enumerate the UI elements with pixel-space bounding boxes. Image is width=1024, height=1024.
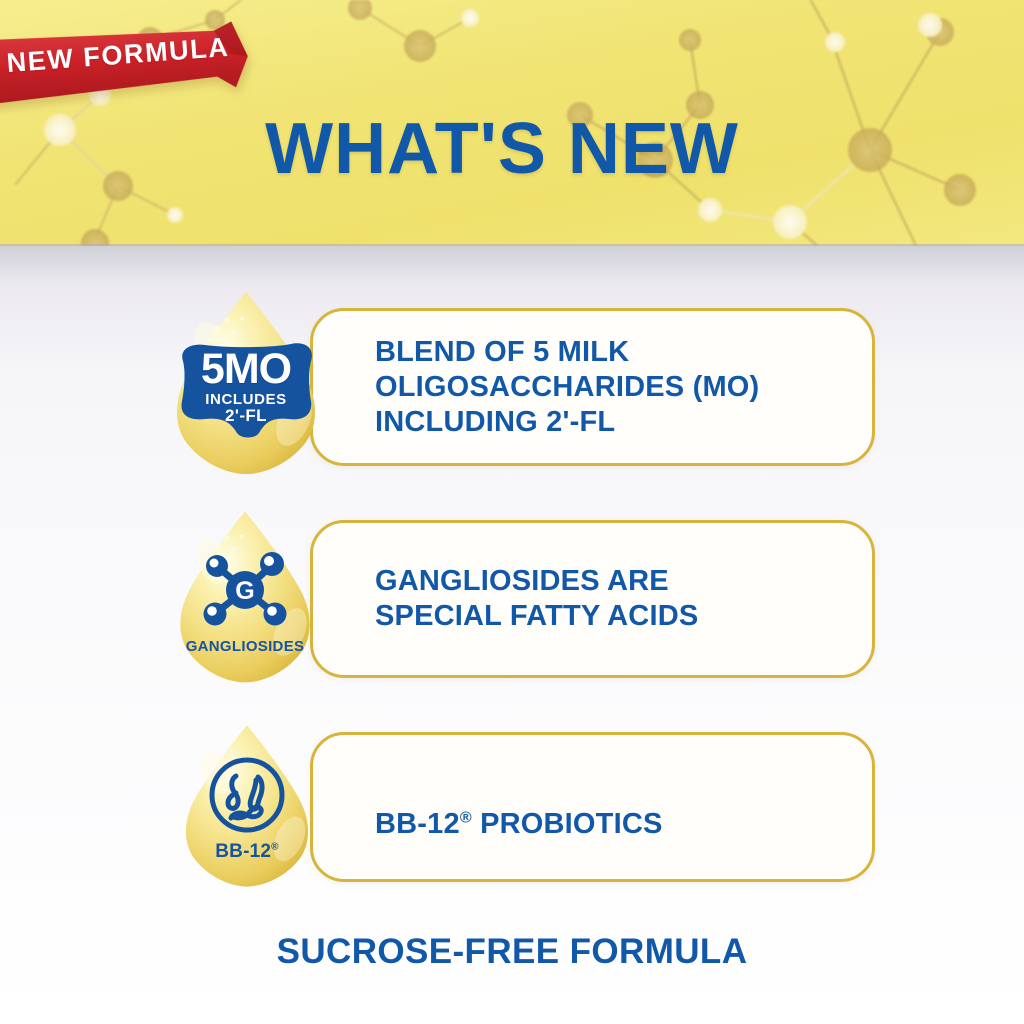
page-title: WHAT'S NEW [0,108,1024,190]
infographic-page: NEW FORMULA WHAT'S NEW BLEND OF 5 MILK O… [0,0,1024,1024]
badge-5mo-sub-includes: INCLUDES [205,392,286,408]
benefit-text: BLEND OF 5 MILK OLIGOSACCHARIDES (MO) IN… [375,335,759,439]
benefit-card[interactable]: BB-12® PROBIOTICS [310,732,875,882]
ganglioside-molecule-icon: G [195,546,295,634]
droplet-bb12-icon: BB-12® [162,720,332,890]
droplet-bb12-content: BB-12® [162,720,332,890]
ganglioside-letter: G [235,577,254,605]
benefit-text: BB-12® PROBIOTICS [375,772,663,842]
droplet-gangliosides-content: G GANGLIOSIDES [155,506,335,686]
bb12-label-text: BB-12 [215,841,271,862]
registered-trademark-symbol: ® [460,809,472,826]
badge-5mo-main: 5MO [201,349,291,390]
benefit-card[interactable]: BLEND OF 5 MILK OLIGOSACCHARIDES (MO) IN… [310,308,875,466]
benefit-text-rest: PROBIOTICS [472,808,663,840]
probiotic-bacteria-icon [206,754,288,836]
benefit-row-bb12: BB-12® PROBIOTICS [140,712,885,907]
badge-5mo-sub-2fl: 2'-FL [225,407,267,425]
droplet-5mo-content: 5MO INCLUDES 2'-FL [150,286,342,478]
droplet-5mo-icon: 5MO INCLUDES 2'-FL [150,286,342,478]
bb12-label: BB-12® [215,841,278,863]
header-banner: NEW FORMULA WHAT'S NEW [0,0,1024,246]
benefit-text-main: BB-12 [375,808,460,840]
benefit-card[interactable]: GANGLIOSIDES ARE SPECIAL FATTY ACIDS [310,520,875,678]
footer-text: SUCROSE-FREE FORMULA [0,932,1024,972]
benefit-row-gangliosides: GANGLIOSIDES ARE SPECIAL FATTY ACIDS [140,500,885,700]
benefit-text: GANGLIOSIDES ARE SPECIAL FATTY ACIDS [375,564,698,634]
badge-5mo: 5MO INCLUDES 2'-FL [175,339,317,439]
ganglioside-label: GANGLIOSIDES [186,638,305,655]
droplet-gangliosides-icon: G GANGLIOSIDES [155,506,335,686]
bb12-registered-symbol: ® [271,841,279,852]
benefit-row-5mo: BLEND OF 5 MILK OLIGOSACCHARIDES (MO) IN… [140,288,885,488]
